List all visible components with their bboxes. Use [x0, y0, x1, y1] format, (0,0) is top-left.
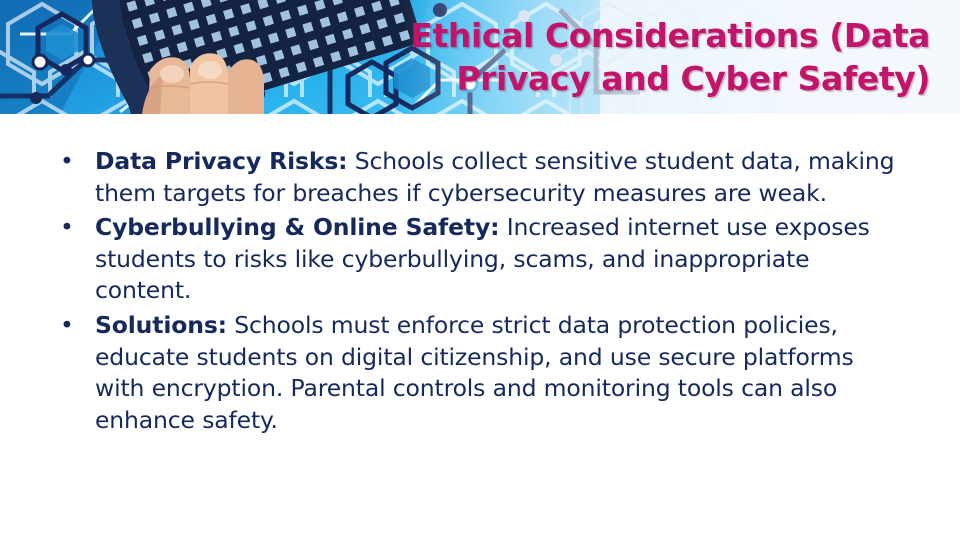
- list-item: •Cyberbullying & Online Safety: Increase…: [50, 212, 910, 307]
- bullet-marker-icon: •: [60, 212, 74, 244]
- list-item: •Solutions: Schools must enforce strict …: [50, 310, 910, 436]
- bullet-list: •Data Privacy Risks: Schools collect sen…: [50, 146, 910, 439]
- list-item: •Data Privacy Risks: Schools collect sen…: [50, 146, 910, 209]
- bullet-lead-in: Data Privacy Risks:: [95, 147, 347, 175]
- slide-header-banner: Ethical Considerations (Data Privacy and…: [0, 0, 960, 114]
- bullet-marker-icon: •: [60, 146, 74, 178]
- bullet-lead-in: Solutions:: [95, 311, 227, 339]
- page-title: Ethical Considerations (Data Privacy and…: [290, 14, 930, 100]
- bullet-lead-in: Cyberbullying & Online Safety:: [95, 213, 499, 241]
- slide-body: •Data Privacy Risks: Schools collect sen…: [0, 114, 960, 540]
- slide: Ethical Considerations (Data Privacy and…: [0, 0, 960, 540]
- bullet-marker-icon: •: [60, 310, 74, 342]
